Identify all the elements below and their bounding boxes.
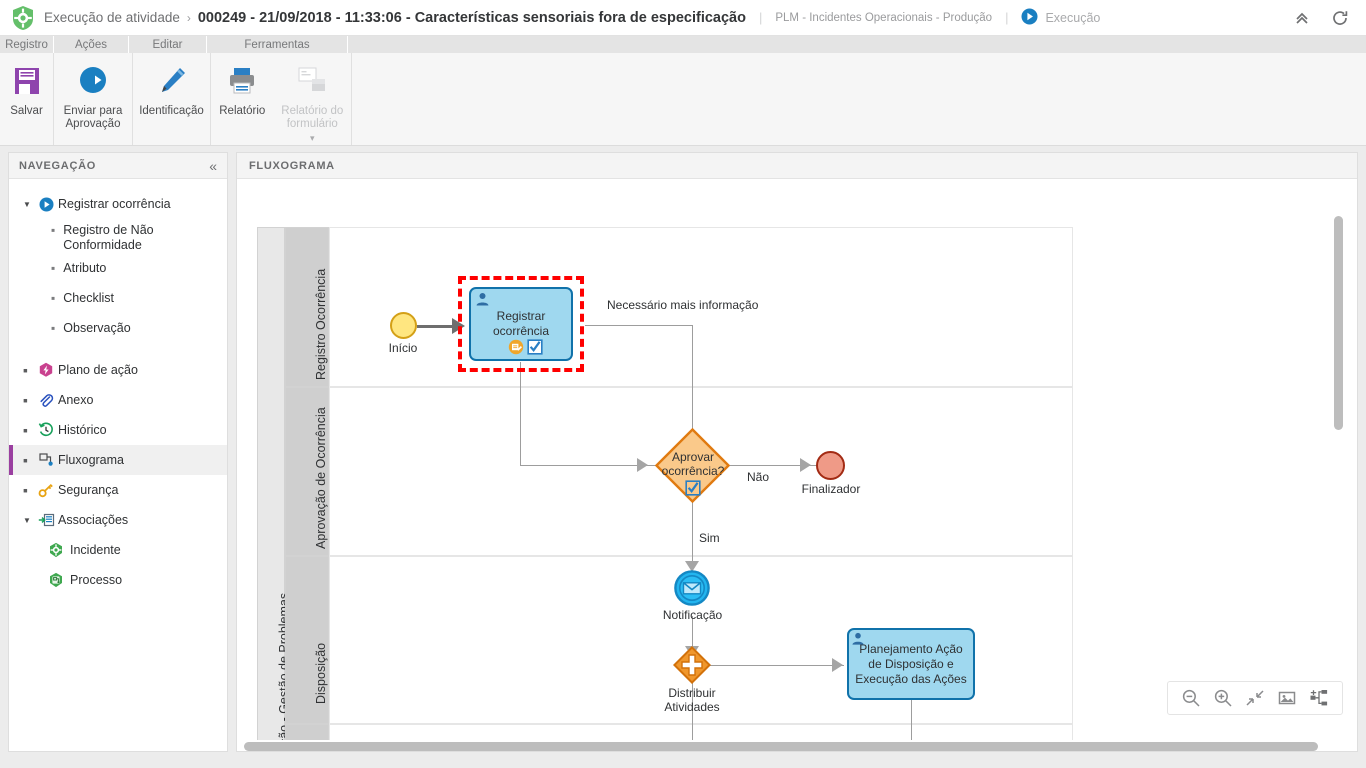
- bullet-icon: ▪: [23, 423, 35, 437]
- node-label-aprovar-ocorrencia: Aprovar ocorrência?: [657, 450, 729, 478]
- save-label: Salvar: [10, 105, 43, 118]
- sidebar-item-label: Anexo: [58, 393, 93, 408]
- canvas-vscrollbar-thumb[interactable]: [1334, 216, 1343, 430]
- navigation-sidebar: NAVEGAÇÃO « ▼ Registrar ocorrência ▪ Reg…: [8, 152, 228, 752]
- ribbon-group-ferramentas: Relatório Relatório do formulário ▾: [211, 53, 352, 145]
- history-clock-icon: [37, 422, 55, 438]
- sidebar-item-label: Processo: [70, 573, 122, 588]
- sidebar-nav-list: ▼ Registrar ocorrência ▪ Registro de Não…: [9, 179, 227, 595]
- edge-inicio-registrar: [417, 325, 456, 328]
- lane-header-registro-ocorrencia: Registro Ocorrência: [285, 227, 329, 387]
- sidebar-item-historico[interactable]: ▪ Histórico: [9, 415, 227, 445]
- send-to-approval-label: Enviar para Aprovação: [64, 105, 123, 131]
- fit-to-screen-icon[interactable]: [1242, 685, 1268, 711]
- ribbon-tab-editar[interactable]: Editar: [129, 36, 207, 53]
- edge-label-sim: Sim: [699, 531, 720, 545]
- sidebar-item-label: Histórico: [58, 423, 107, 438]
- incident-icon: [47, 542, 65, 558]
- save-button[interactable]: Salvar: [0, 53, 53, 145]
- page-title: 000249 - 21/09/2018 - 11:33:06 - Caracte…: [198, 10, 746, 26]
- lane-header-aprovacao-ocorrencia: Aprovação de Ocorrência: [285, 387, 329, 556]
- bullet-icon: ▪: [23, 453, 35, 467]
- ribbon-group-editar: Identificação: [133, 53, 211, 145]
- refresh-icon[interactable]: [1330, 8, 1350, 28]
- edge-arrow-nao: [800, 458, 811, 472]
- bullet-icon: ▪: [51, 321, 55, 336]
- node-user-task-planejamento[interactable]: Planejamento Ação de Disposição e Execuç…: [847, 628, 975, 700]
- bullet-icon: ▪: [23, 363, 35, 377]
- sidebar-item-atributo[interactable]: ▪ Atributo: [9, 257, 227, 287]
- ribbon-tab-bar: Registro Ações Editar Ferramentas: [0, 36, 1366, 53]
- ribbon-tab-registro[interactable]: Registro: [0, 36, 54, 53]
- flowchart-icon: [37, 452, 55, 468]
- header-actions: [1292, 8, 1356, 28]
- bullet-icon: ▪: [51, 261, 55, 276]
- printer-icon: [224, 61, 260, 101]
- sidebar-item-label: Registro de Não Conformidade: [63, 223, 203, 253]
- form-report-button[interactable]: Relatório do formulário ▾: [274, 53, 351, 145]
- pool-header: ação - Gestão de Problemas: [257, 227, 285, 751]
- action-plan-icon: [37, 362, 55, 378]
- key-icon: [37, 482, 55, 498]
- flowchart-panel-title: FLUXOGRAMA: [249, 160, 335, 172]
- arrow-circle-right-icon: [75, 61, 111, 101]
- caret-down-icon[interactable]: ▼: [23, 516, 35, 525]
- breadcrumb-module[interactable]: Execução de atividade: [44, 10, 180, 25]
- lane-label: Aprovação de Ocorrência: [314, 407, 328, 549]
- flowchart-panel: FLUXOGRAMA ação - Gestão de Problemas Re…: [236, 152, 1358, 752]
- ribbon-group-registro: Salvar: [0, 53, 54, 145]
- lane-label: Disposição: [314, 643, 328, 704]
- sidebar-item-seguranca[interactable]: ▪ Segurança: [9, 475, 227, 505]
- edge-distribuir-planejamento: [709, 665, 844, 666]
- user-icon: [475, 292, 490, 312]
- sidebar-item-incidente[interactable]: Incidente: [9, 535, 227, 565]
- sidebar-item-label: Plano de ação: [58, 363, 138, 378]
- ribbon-group-acoes: Enviar para Aprovação: [54, 53, 133, 145]
- edge-label-necessario-mais-informacao: Necessário mais informação: [607, 298, 758, 312]
- node-message-event-notificacao[interactable]: [674, 570, 710, 611]
- pencil-icon: [154, 61, 190, 101]
- edge-registrar-down: [520, 362, 521, 465]
- lane-header-disposicao: Disposição: [285, 556, 329, 724]
- checklist-icon: [527, 339, 543, 360]
- paperclip-icon: [37, 392, 55, 408]
- status-label: Execução: [1045, 11, 1100, 25]
- node-gateway-distribuir-atividades[interactable]: [673, 646, 711, 689]
- report-label: Relatório: [219, 105, 265, 118]
- app-header: Execução de atividade › 000249 - 21/09/2…: [0, 0, 1366, 36]
- zoom-out-icon[interactable]: [1178, 685, 1204, 711]
- edge-label-nao: Não: [747, 470, 769, 484]
- flowchart-canvas[interactable]: ação - Gestão de Problemas Registro Ocor…: [237, 180, 1357, 751]
- edge-arrow-to-aprovar: [637, 458, 648, 472]
- sidebar-header: NAVEGAÇÃO «: [9, 153, 227, 179]
- process-icon: [47, 572, 65, 588]
- ribbon-toolbar: Registro Ações Editar Ferramentas Salvar: [0, 36, 1366, 146]
- bullet-icon: ▪: [23, 393, 35, 407]
- header-divider-1: |: [759, 10, 762, 25]
- sidebar-item-registro-nao-conformidade[interactable]: ▪ Registro de Não Conformidade: [9, 219, 227, 257]
- form-report-icon: [294, 61, 330, 101]
- sidebar-item-observacao[interactable]: ▪ Observação: [9, 317, 227, 347]
- play-circle-icon: [1021, 8, 1038, 28]
- node-marker-icons-registrar: [508, 339, 543, 360]
- bullet-icon: ▪: [51, 223, 55, 238]
- header-subtitle: PLM - Incidentes Operacionais - Produção: [775, 12, 992, 24]
- sidebar-item-label: Incidente: [70, 543, 121, 558]
- sidebar-item-fluxograma[interactable]: ▪ Fluxograma: [9, 445, 227, 475]
- play-circle-icon: [37, 197, 55, 212]
- node-label-registrar-ocorrencia: Registrar ocorrência: [489, 309, 553, 339]
- canvas-hscrollbar-thumb[interactable]: [244, 742, 1318, 751]
- node-label-finalizador: Finalizador: [793, 482, 869, 496]
- bpmn-diagram: ação - Gestão de Problemas Registro Ocor…: [237, 180, 1357, 751]
- sidebar-item-label: Fluxograma: [58, 453, 124, 468]
- bullet-icon: ▪: [51, 291, 55, 306]
- caret-down-icon[interactable]: ▼: [23, 200, 35, 209]
- edge-arrow-inicio-registrar: [452, 318, 465, 334]
- diagram-zoom-toolbar: [1167, 681, 1343, 715]
- send-to-approval-button[interactable]: Enviar para Aprovação: [54, 53, 132, 145]
- edge-registrar-to-aprovar: [520, 465, 672, 466]
- double-chevron-up-icon[interactable]: [1292, 8, 1312, 28]
- node-label-notificacao: Notificação: [648, 608, 737, 622]
- header-divider-2: |: [1005, 10, 1008, 25]
- lane-label: Registro Ocorrência: [314, 269, 328, 380]
- node-label-planejamento: Planejamento Ação de Disposição e Execuç…: [851, 642, 970, 687]
- floppy-disk-icon: [9, 61, 45, 101]
- node-end-event-finalizador[interactable]: [816, 451, 845, 480]
- flowchart-panel-header: FLUXOGRAMA: [237, 153, 1357, 179]
- sidebar-item-anexo[interactable]: ▪ Anexo: [9, 385, 227, 415]
- zoom-in-icon[interactable]: [1210, 685, 1236, 711]
- sidebar-item-label: Segurança: [58, 483, 118, 498]
- sidebar-item-checklist[interactable]: ▪ Checklist: [9, 287, 227, 317]
- sidebar-item-label: Associações: [58, 513, 128, 528]
- sidebar-item-processo[interactable]: Processo: [9, 565, 227, 595]
- identification-label: Identificação: [139, 105, 204, 118]
- edge-registrar-loop-top: [585, 325, 693, 326]
- edge-arrow-planejamento: [832, 658, 843, 672]
- sidebar-item-plano-de-acao[interactable]: ▪ Plano de ação: [9, 355, 227, 385]
- ribbon-tab-filler: [348, 36, 1366, 53]
- associations-icon: [37, 512, 55, 528]
- chevron-down-icon[interactable]: ▾: [310, 133, 315, 144]
- bullet-icon: ▪: [23, 483, 35, 497]
- export-image-icon[interactable]: [1274, 685, 1300, 711]
- sidebar-title: NAVEGAÇÃO: [19, 160, 96, 172]
- user-icon: [851, 632, 865, 651]
- identification-button[interactable]: Identificação: [133, 53, 210, 145]
- status-badge: Execução: [1021, 8, 1100, 28]
- softexpert-logo-icon: [10, 5, 36, 31]
- ribbon-tab-ferramentas[interactable]: Ferramentas: [207, 36, 348, 53]
- node-label-distribuir-atividades: Distribuir Atividades: [649, 686, 735, 714]
- ribbon-content: Salvar Enviar para Aprovação: [0, 53, 1366, 145]
- diagram-layout-icon[interactable]: [1306, 685, 1332, 711]
- node-label-inicio: Início: [368, 341, 438, 355]
- sidebar-item-label: Checklist: [63, 291, 114, 306]
- form-report-label: Relatório do formulário: [281, 105, 343, 131]
- ribbon-tab-acoes[interactable]: Ações: [54, 36, 129, 53]
- sidebar-item-label: Observação: [63, 321, 130, 336]
- form-icon: [508, 339, 524, 360]
- breadcrumb-chevron-icon: ›: [187, 11, 191, 25]
- report-button[interactable]: Relatório: [211, 53, 274, 145]
- sidebar-item-label: Atributo: [63, 261, 106, 276]
- double-chevron-left-icon[interactable]: «: [209, 159, 217, 173]
- sidebar-item-registrar-ocorrencia[interactable]: ▼ Registrar ocorrência: [9, 189, 227, 219]
- checklist-icon: [685, 480, 701, 501]
- sidebar-item-associacoes[interactable]: ▼ Associações: [9, 505, 227, 535]
- sidebar-item-label: Registrar ocorrência: [58, 197, 171, 212]
- node-start-event-inicio[interactable]: [390, 312, 417, 339]
